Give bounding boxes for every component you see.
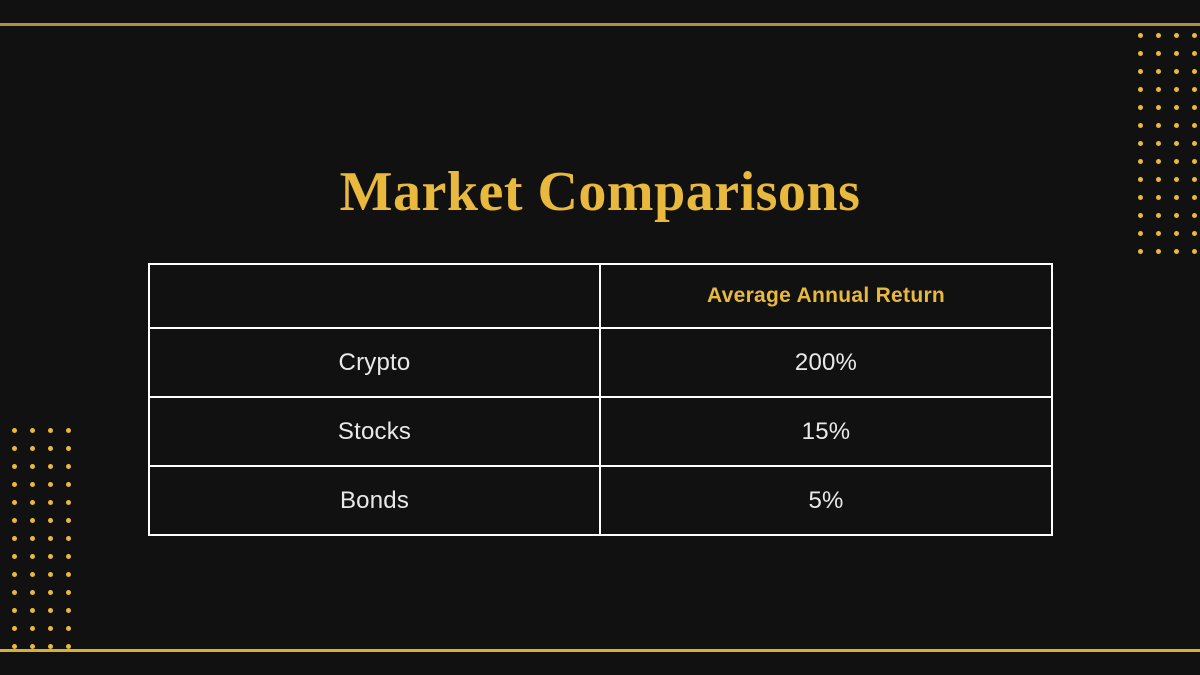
decorative-dot: [1156, 33, 1161, 38]
decorative-dot: [1138, 141, 1143, 146]
decorative-dot: [48, 608, 53, 613]
bottom-gold-rule: [0, 649, 1200, 652]
decorative-dot: [1156, 141, 1161, 146]
decorative-dot: [30, 518, 35, 523]
dot-grid-bottom-left: [12, 428, 84, 662]
decorative-dot: [48, 428, 53, 433]
cell-return-crypto: 200%: [600, 328, 1052, 397]
decorative-dot: [1192, 123, 1197, 128]
decorative-dot: [12, 464, 17, 469]
decorative-dot: [1192, 69, 1197, 74]
decorative-dot: [1138, 249, 1143, 254]
table-row: Bonds 5%: [149, 466, 1052, 535]
decorative-dot: [66, 608, 71, 613]
decorative-dot: [66, 446, 71, 451]
decorative-dot: [1174, 69, 1179, 74]
decorative-dot: [48, 464, 53, 469]
decorative-dot: [1138, 33, 1143, 38]
decorative-dot: [1138, 51, 1143, 56]
decorative-dot: [1174, 33, 1179, 38]
decorative-dot: [1174, 87, 1179, 92]
decorative-dot: [12, 518, 17, 523]
decorative-dot: [12, 482, 17, 487]
decorative-dot: [1156, 123, 1161, 128]
decorative-dot: [1192, 141, 1197, 146]
decorative-dot: [1156, 51, 1161, 56]
decorative-dot: [48, 572, 53, 577]
decorative-dot: [66, 464, 71, 469]
decorative-dot: [30, 500, 35, 505]
decorative-dot: [12, 572, 17, 577]
decorative-dot: [66, 572, 71, 577]
decorative-dot: [1156, 105, 1161, 110]
cell-return-stocks: 15%: [600, 397, 1052, 466]
page-title: Market Comparisons: [0, 160, 1200, 224]
decorative-dot: [30, 464, 35, 469]
decorative-dot: [1192, 105, 1197, 110]
decorative-dot: [1174, 51, 1179, 56]
cell-asset-stocks: Stocks: [149, 397, 600, 466]
decorative-dot: [1156, 87, 1161, 92]
cell-return-bonds: 5%: [600, 466, 1052, 535]
decorative-dot: [30, 428, 35, 433]
decorative-dot: [48, 554, 53, 559]
cell-asset-crypto: Crypto: [149, 328, 600, 397]
decorative-dot: [66, 554, 71, 559]
decorative-dot: [66, 644, 71, 649]
top-gold-rule: [0, 23, 1200, 26]
decorative-dot: [66, 590, 71, 595]
decorative-dot: [48, 590, 53, 595]
decorative-dot: [12, 554, 17, 559]
table-row: Crypto 200%: [149, 328, 1052, 397]
decorative-dot: [1192, 33, 1197, 38]
decorative-dot: [1174, 249, 1179, 254]
decorative-dot: [12, 500, 17, 505]
decorative-dot: [12, 644, 17, 649]
decorative-dot: [1174, 105, 1179, 110]
decorative-dot: [1138, 231, 1143, 236]
decorative-dot: [66, 626, 71, 631]
decorative-dot: [30, 446, 35, 451]
decorative-dot: [1192, 249, 1197, 254]
decorative-dot: [66, 428, 71, 433]
decorative-dot: [12, 608, 17, 613]
comparison-table-container: Average Annual Return Crypto 200% Stocks…: [148, 263, 1051, 536]
decorative-dot: [12, 626, 17, 631]
decorative-dot: [1156, 249, 1161, 254]
decorative-dot: [30, 644, 35, 649]
decorative-dot: [1138, 105, 1143, 110]
table-header-category: [149, 264, 600, 328]
decorative-dot: [48, 518, 53, 523]
decorative-dot: [30, 482, 35, 487]
decorative-dot: [30, 572, 35, 577]
decorative-dot: [1192, 51, 1197, 56]
decorative-dot: [12, 536, 17, 541]
decorative-dot: [30, 536, 35, 541]
decorative-dot: [12, 446, 17, 451]
decorative-dot: [1174, 141, 1179, 146]
table-header-row: Average Annual Return: [149, 264, 1052, 328]
decorative-dot: [48, 446, 53, 451]
decorative-dot: [48, 500, 53, 505]
decorative-dot: [48, 644, 53, 649]
decorative-dot: [1138, 123, 1143, 128]
decorative-dot: [1192, 231, 1197, 236]
decorative-dot: [1156, 69, 1161, 74]
decorative-dot: [48, 482, 53, 487]
decorative-dot: [66, 482, 71, 487]
decorative-dot: [66, 536, 71, 541]
decorative-dot: [1138, 69, 1143, 74]
decorative-dot: [48, 536, 53, 541]
decorative-dot: [66, 500, 71, 505]
decorative-dot: [48, 626, 53, 631]
cell-asset-bonds: Bonds: [149, 466, 600, 535]
decorative-dot: [1156, 231, 1161, 236]
decorative-dot: [1138, 87, 1143, 92]
decorative-dot: [30, 608, 35, 613]
decorative-dot: [30, 554, 35, 559]
decorative-dot: [30, 590, 35, 595]
market-comparison-table: Average Annual Return Crypto 200% Stocks…: [148, 263, 1053, 536]
table-body: Crypto 200% Stocks 15% Bonds 5%: [149, 328, 1052, 535]
decorative-dot: [1174, 123, 1179, 128]
decorative-dot: [1192, 87, 1197, 92]
decorative-dot: [12, 428, 17, 433]
decorative-dot: [1174, 231, 1179, 236]
table-row: Stocks 15%: [149, 397, 1052, 466]
decorative-dot: [30, 626, 35, 631]
decorative-dot: [66, 518, 71, 523]
dot-grid-top-right: [1138, 33, 1200, 267]
decorative-dot: [12, 590, 17, 595]
slide-canvas: Market Comparisons Average Annual Return…: [0, 0, 1200, 675]
table-header-average-annual-return: Average Annual Return: [600, 264, 1052, 328]
